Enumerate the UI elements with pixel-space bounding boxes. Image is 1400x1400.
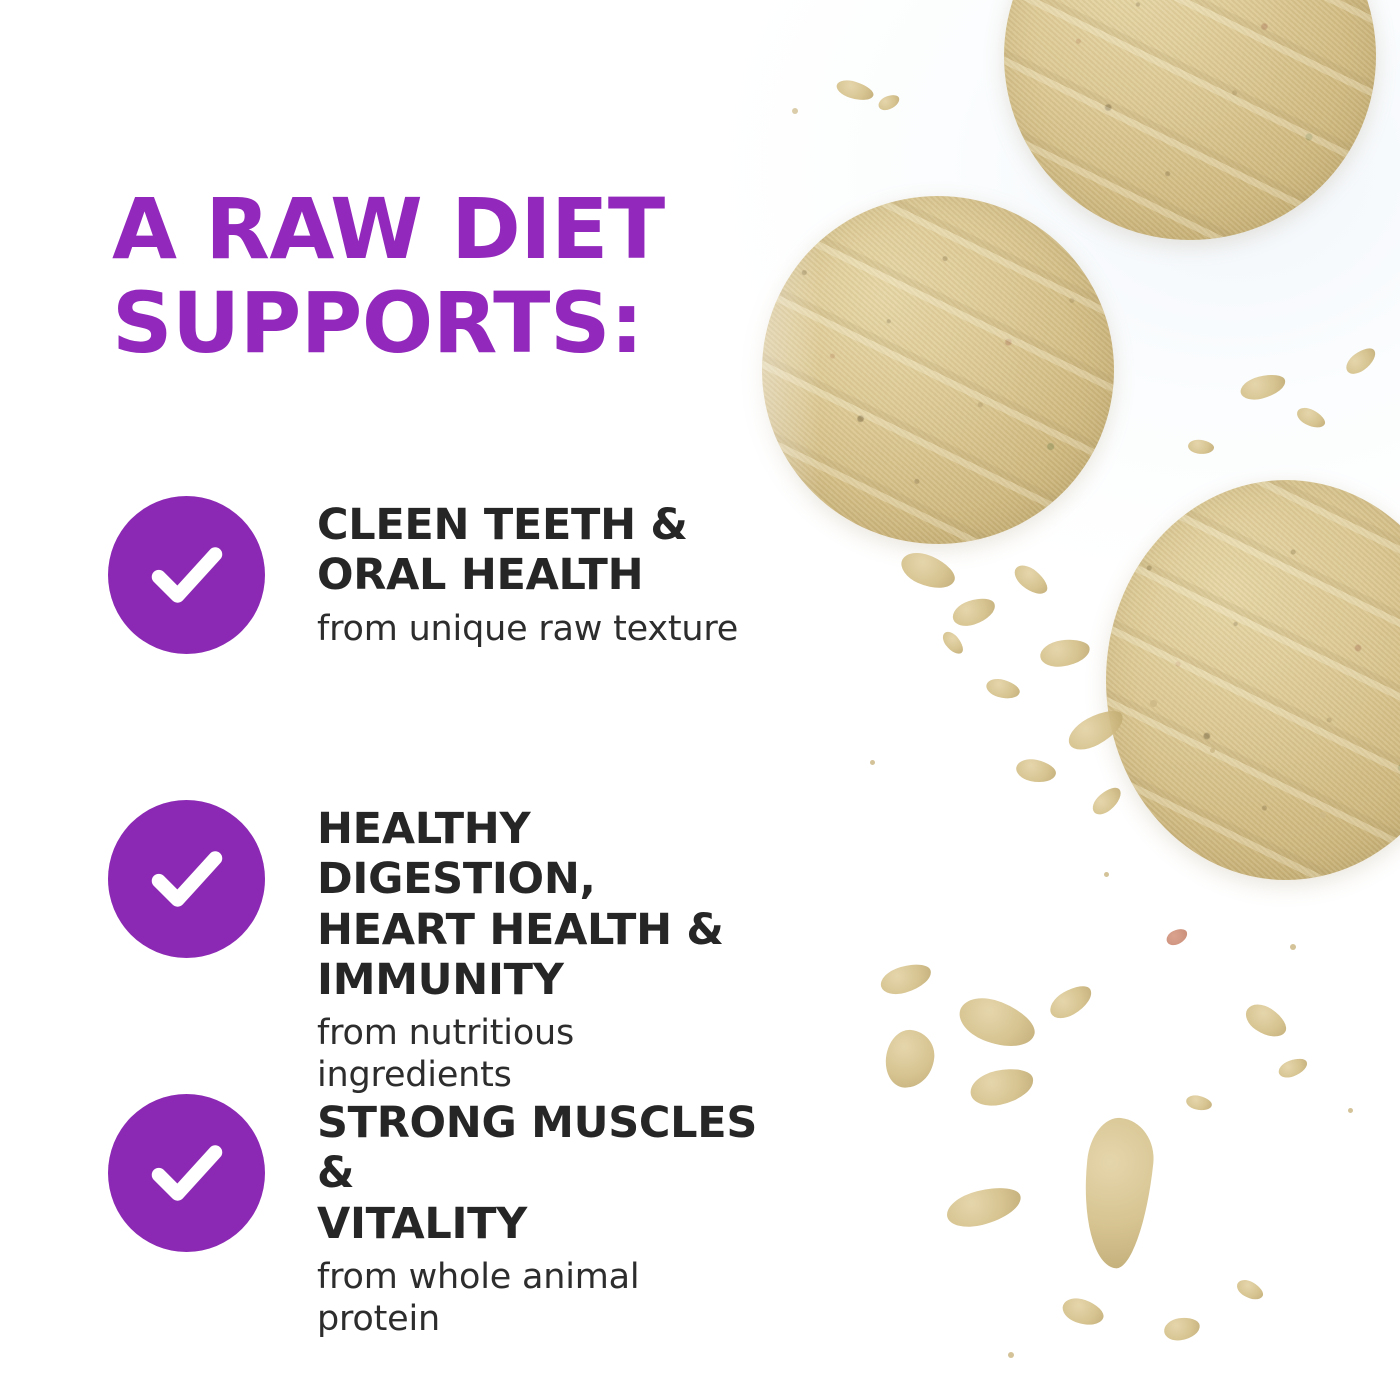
food-speck [1150,700,1157,707]
benefit-text-block: HEALTHY DIGESTION, HEART HEALTH & IMMUNI… [265,800,760,1096]
food-speck [1008,1352,1014,1358]
benefit-title: HEALTHY DIGESTION, HEART HEALTH & IMMUNI… [317,804,760,1005]
page-title: A RAW DIET SUPPORTS: [112,182,752,370]
benefit-title: STRONG MUSCLES & VITALITY [317,1098,760,1249]
benefit-subtitle: from whole animal protein [317,1249,760,1340]
benefit-subtitle: from nutritious ingredients [317,1005,760,1096]
food-speck [1104,872,1109,877]
benefit-item: HEALTHY DIGESTION, HEART HEALTH & IMMUNI… [108,800,760,1096]
benefit-item: STRONG MUSCLES & VITALITY from whole ani… [108,1094,760,1340]
benefit-subtitle: from unique raw texture [317,601,738,650]
food-speck [1348,1108,1353,1113]
infographic-page: A RAW DIET SUPPORTS: CLEEN TEETH & ORAL … [0,0,1400,1400]
benefit-text-block: CLEEN TEETH & ORAL HEALTH from unique ra… [265,496,738,650]
check-icon [108,1094,265,1252]
content-column: A RAW DIET SUPPORTS: CLEEN TEETH & ORAL … [0,0,760,1400]
check-icon [108,496,265,654]
food-speck [870,760,875,765]
benefit-item: CLEEN TEETH & ORAL HEALTH from unique ra… [108,496,738,654]
check-icon [108,800,265,958]
food-speck [1320,812,1326,818]
food-speck [1290,944,1296,950]
benefit-text-block: STRONG MUSCLES & VITALITY from whole ani… [265,1094,760,1340]
benefit-title: CLEEN TEETH & ORAL HEALTH [317,500,738,601]
food-speck [1210,748,1215,753]
